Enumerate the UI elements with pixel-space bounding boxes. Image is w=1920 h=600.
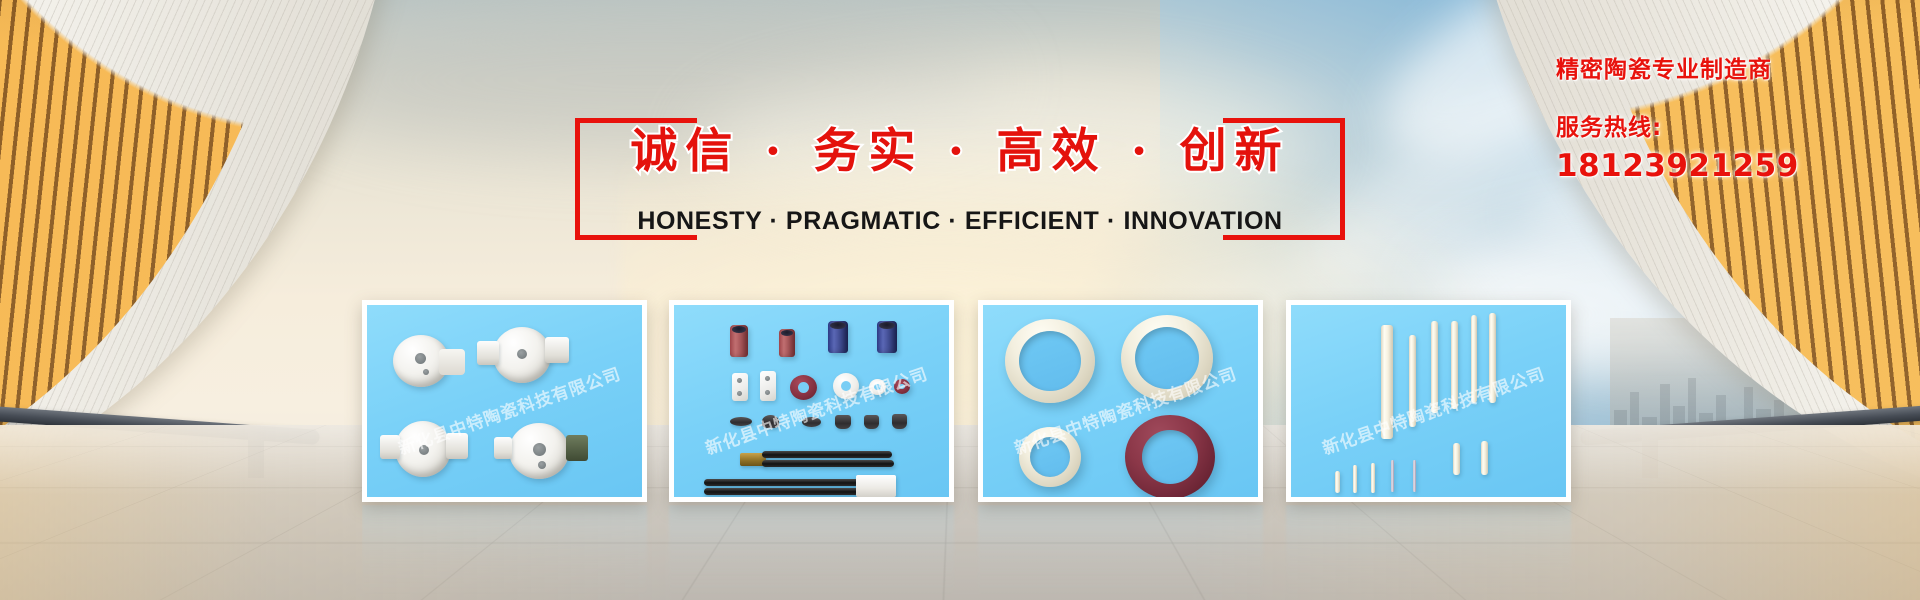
slogan-chinese: 诚信 · 务实 · 高效 · 创新 (575, 112, 1345, 181)
hero-banner: 诚信 · 务实 · 高效 · 创新 HONESTY · PRAGMATIC · … (0, 0, 1920, 600)
product-panel-ceramic-rods[interactable]: 新化县中特陶瓷科技有限公司 (1286, 300, 1571, 502)
panel-watermark: 新化县中特陶瓷科技有限公司 (1291, 346, 1566, 473)
product-panel-ceramic-lamp-holders[interactable]: 新化县中特陶瓷科技有限公司 (362, 300, 647, 502)
slogan-block: 诚信 · 务实 · 高效 · 创新 HONESTY · PRAGMATIC · … (575, 118, 1345, 240)
product-photo-strip: 新化县中特陶瓷科技有限公司 (362, 300, 1574, 502)
product-panel-ceramic-tubes[interactable]: 新化县中特陶瓷科技有限公司 (669, 300, 954, 502)
hotline-label: 服务热线: (1556, 108, 1906, 142)
product-panel-ceramic-rings[interactable]: 新化县中特陶瓷科技有限公司 (978, 300, 1263, 502)
slogan-english: HONESTY · PRAGMATIC · EFFICIENT · INNOVA… (575, 207, 1345, 236)
contact-block: 精密陶瓷专业制造商 服务热线: 18123921259 (1556, 50, 1906, 184)
golden-slat-wall (0, 0, 378, 470)
hotline-phone-number[interactable]: 18123921259 (1556, 148, 1906, 184)
company-tagline: 精密陶瓷专业制造商 (1556, 50, 1906, 84)
